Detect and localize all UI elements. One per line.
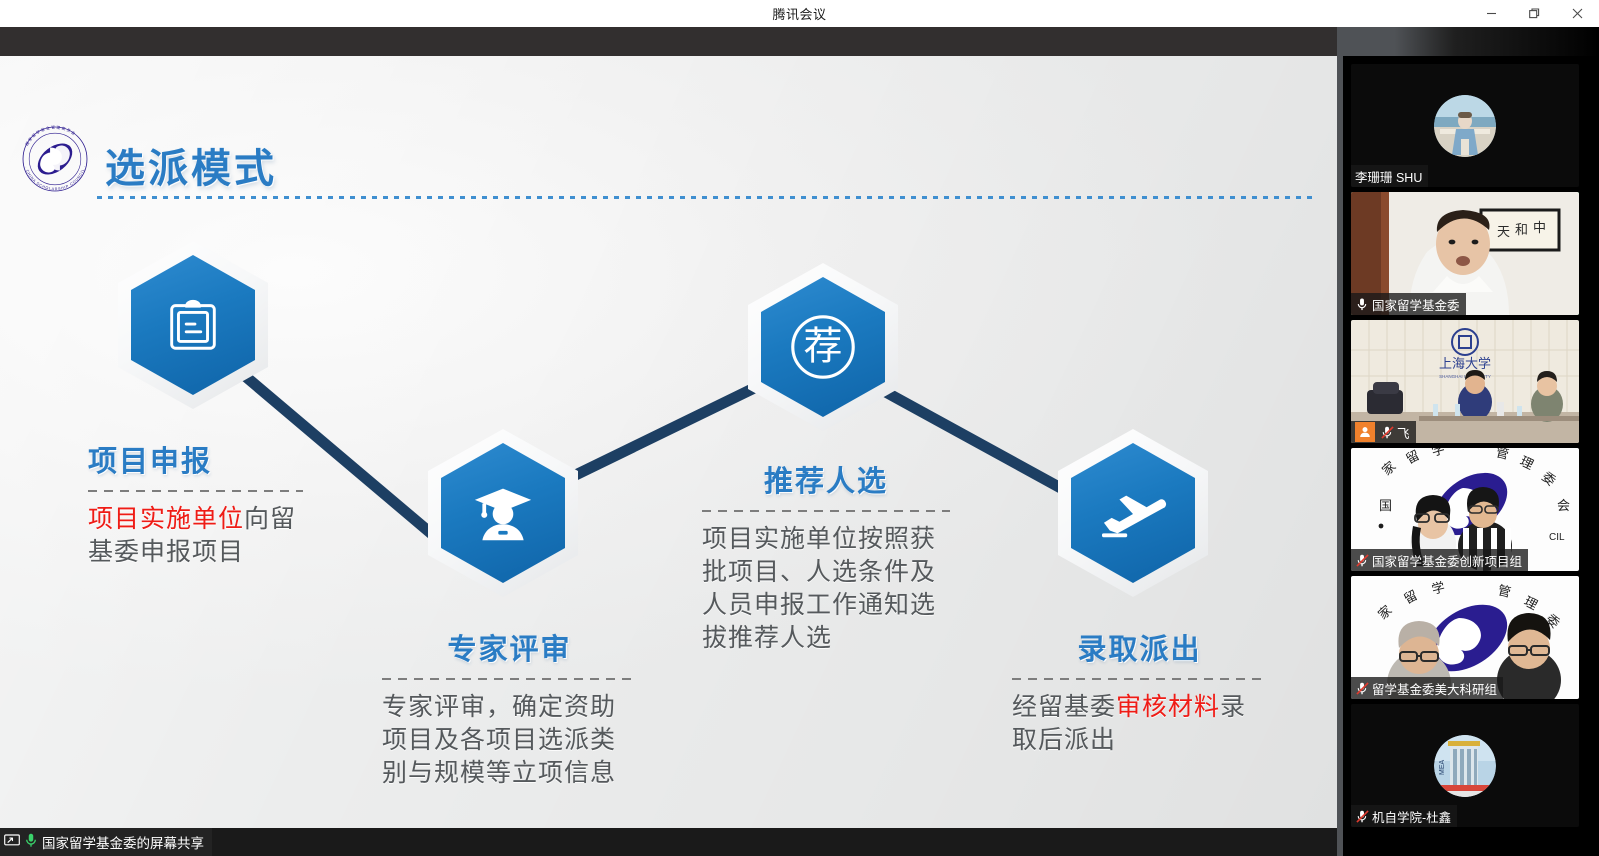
participant-tile[interactable]: 李珊珊 SHU [1351,64,1579,187]
tencent-meeting-window: 腾讯会议 [0,0,1599,856]
window-controls [1470,0,1599,27]
participant-tile[interactable]: 天和中 [1351,192,1579,315]
step-1-text: 项目申报 项目实施单位向留基委申报项目 [88,438,303,569]
shared-screen-slide: · CHINA SCHOLARSHIP COUNCIL · 国家留学基金管理委员… [0,56,1337,828]
airplane-takeoff-icon [1071,443,1195,583]
share-status-chip: 国家留学基金委的屏幕共享 [0,828,212,856]
svg-text:国家留学基金管理委员会: 国家留学基金管理委员会 [24,125,77,147]
title-bar: 腾讯会议 [0,0,1599,27]
screen-share-icon [4,834,20,850]
share-status-text: 国家留学基金委的屏幕共享 [42,832,204,852]
mic-on-icon [25,833,37,851]
page-title: 选派模式 [105,136,277,194]
step-1-divider [88,490,303,492]
svg-text:上海大学: 上海大学 [1439,356,1491,371]
avatar: MEA [1434,735,1496,797]
restore-button[interactable] [1513,0,1556,27]
step-2-divider [382,678,637,680]
step-3-node: 荐 [748,263,898,431]
participant-name: 飞 [1397,423,1410,442]
svg-text:国: 国 [1379,498,1392,513]
step-4-node [1058,429,1208,597]
step-2-text: 专家评审 专家评审，确定资助项目及各项目选派类别与规模等立项信息 [382,626,637,790]
recommend-character-icon: 荐 [761,277,885,417]
svg-text:和: 和 [1515,222,1528,237]
mic-muted-icon [1355,681,1369,695]
step-1-body-highlight: 项目实施单位 [88,505,244,533]
avatar-badge-icon [1355,422,1375,442]
window-title: 腾讯会议 [772,4,826,23]
share-status-bar: 国家留学基金委的屏幕共享 [0,828,1337,856]
step-2-body: 专家评审，确定资助项目及各项目选派类别与规模等立项信息 [382,691,637,790]
title-divider [97,196,1316,199]
participant-strip-inner: 李珊珊 SHU 天和中 [1343,56,1599,856]
participant-strip[interactable]: 李珊珊 SHU 天和中 [1337,56,1599,856]
step-3-title: 推荐人选 [702,458,950,500]
step-1-title: 项目申报 [88,438,303,480]
participant-tile[interactable]: 家 留 学 管 理 委 [1351,576,1579,699]
graduate-icon [441,443,565,583]
participant-tile[interactable]: 家 留 学 管 理 委 国 会 CIL [1351,448,1579,571]
svg-text:中: 中 [1533,220,1546,235]
participant-name: 机自学院-杜鑫 [1372,807,1451,826]
participant-name: 国家留学基金委创新项目组 [1372,551,1522,570]
step-3-text: 推荐人选 项目实施单位按照获批项目、人选条件及人员申报工作通知选拔推荐人选 [702,458,950,655]
svg-text:天: 天 [1497,224,1510,239]
mic-muted-icon [1355,553,1369,567]
avatar [1434,95,1496,157]
strip-top-band [1337,27,1599,56]
step-4-title: 录取派出 [1012,626,1267,668]
participant-name: 李珊珊 SHU [1355,167,1422,186]
step-2-title: 专家评审 [382,626,637,668]
mic-on-icon [1355,297,1369,311]
svg-text:会: 会 [1557,498,1570,513]
svg-text:MEA: MEA [1439,759,1446,775]
mic-muted-icon [1380,425,1394,439]
mic-muted-icon [1355,809,1369,823]
csc-logo-icon: · CHINA SCHOLARSHIP COUNCIL · 国家留学基金管理委员… [14,118,96,200]
meeting-body: · CHINA SCHOLARSHIP COUNCIL · 国家留学基金管理委员… [0,27,1599,856]
tile-label: 机自学院-杜鑫 [1351,805,1457,827]
close-button[interactable] [1556,0,1599,27]
clipboard-icon [131,255,255,395]
tile-label: 国家留学基金委 [1351,293,1466,315]
step-4-body-highlight: 审核材料 [1116,693,1220,721]
participant-name: 留学基金委美大科研组 [1372,679,1497,698]
step-4-body-prefix: 经留基委 [1012,693,1116,721]
step-3-divider [702,510,950,512]
recommend-glyph: 荐 [803,326,842,369]
share-top-band [0,27,1337,56]
tile-label: 飞 [1351,421,1416,443]
step-4-divider [1012,678,1267,680]
svg-text:CIL: CIL [1549,532,1565,543]
step-4-body: 经留基委审核材料录取后派出 [1012,691,1267,757]
tile-label: 留学基金委美大科研组 [1351,677,1503,699]
step-1-body: 项目实施单位向留基委申报项目 [88,503,303,569]
participant-tile[interactable]: 上海大学 SHANGHAI UNIVERSITY [1351,320,1579,443]
minimize-button[interactable] [1470,0,1513,27]
step-4-text: 录取派出 经留基委审核材料录取后派出 [1012,626,1267,757]
step-3-body: 项目实施单位按照获批项目、人选条件及人员申报工作通知选拔推荐人选 [702,523,950,655]
step-2-node [428,429,578,597]
participant-name: 国家留学基金委 [1372,295,1460,314]
step-1-node [118,241,268,409]
tile-label: 国家留学基金委创新项目组 [1351,549,1528,571]
participant-tile[interactable]: MEA [1351,704,1579,827]
tile-label: 李珊珊 SHU [1351,165,1428,187]
